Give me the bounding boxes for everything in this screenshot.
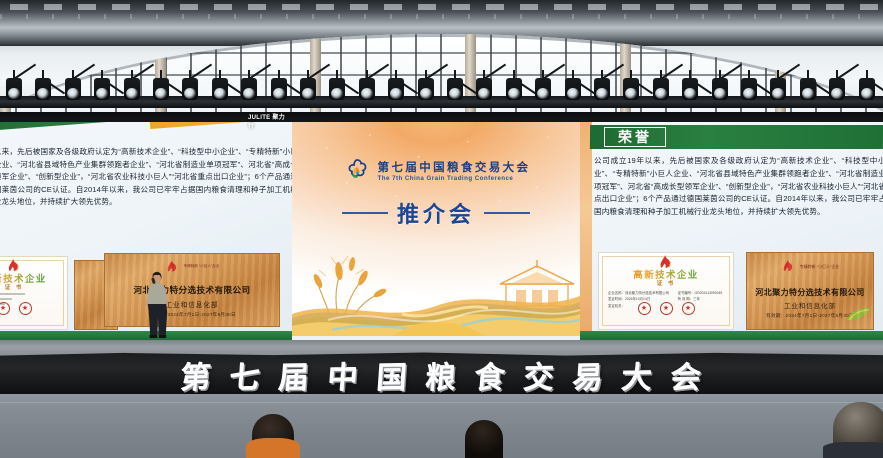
presenter-on-stage <box>140 270 174 338</box>
stage-light <box>800 78 816 100</box>
certificate-seals <box>0 302 67 315</box>
center-panel-artwork <box>292 244 580 340</box>
plaque-validity-date: 有效期：2024年7月1日-2027年6月30日 <box>105 312 279 318</box>
floor-seam-line <box>0 402 883 403</box>
certificate-subtitle: 证 书 <box>0 283 67 291</box>
stage-light <box>329 78 345 100</box>
stage-light <box>859 78 875 100</box>
stage-light <box>653 78 669 100</box>
audience-shoulder <box>823 442 883 458</box>
honor-header-box: 荣誉 <box>604 127 666 147</box>
stage-light <box>300 78 316 100</box>
right-panel-green-base <box>580 331 883 340</box>
ceiling-light-panel <box>486 4 504 10</box>
ceiling-light-panel <box>792 4 810 10</box>
plaque-company-name: 河北聚力特分选技术有限公司 <box>105 284 279 296</box>
conference-title-cn: 第七届中国粮食交易大会 <box>378 162 531 174</box>
stage-light <box>212 78 228 100</box>
ceiling-light-panel <box>758 4 776 10</box>
official-seal-icon <box>660 302 673 315</box>
stage-light <box>712 78 728 100</box>
ceiling-light-panel <box>350 4 368 10</box>
stage-light <box>623 78 639 100</box>
ceiling-light-panel <box>282 4 300 10</box>
leaf-decoration-icon <box>845 307 871 326</box>
certificate-subtitle: 证 书 <box>599 279 733 287</box>
banner-character: 中 <box>326 353 360 398</box>
ceiling-light-panel <box>10 4 28 10</box>
stage-light <box>682 78 698 100</box>
led-panel-right: 荣誉 公司成立19年以来，先后被国家及各级政府认定为“高新技术企业”、“科技型中… <box>580 122 883 340</box>
ceiling-light-panel <box>146 4 164 10</box>
banner-character: 粮 <box>424 353 458 398</box>
led-panel-center: 第七届中国粮食交易大会 The 7th China Grain Trading … <box>292 122 580 340</box>
ceiling-light-panel <box>384 4 402 10</box>
stage-light <box>241 78 257 100</box>
ceiling-light-panel <box>214 4 232 10</box>
ceiling-light-panel <box>588 4 606 10</box>
stage-light <box>359 78 375 100</box>
divider-left <box>342 212 388 214</box>
specialized-new-emblem: 专精特新 “小巨人”企业 <box>781 259 840 273</box>
banner-character: 届 <box>277 353 311 398</box>
plaque-issuing-org: 工业和信息化部 <box>105 299 279 309</box>
right-certificate-strip: 高新技术企业 证 书 企业名称：河北聚力特分选技术有限公司 证书编号：GR202… <box>580 250 883 340</box>
plaque-validity-date: 有效期：2024年7月1日-2027年6月30日 <box>747 313 873 319</box>
ceiling-light-panel <box>44 4 62 10</box>
honor-header-label: 荣誉 <box>618 127 652 147</box>
stage-light <box>829 78 845 100</box>
plaque-company-name: 河北聚力特分选技术有限公司 <box>747 287 873 298</box>
plaque-specialized-new: 专精特新 “小巨人”企业 河北聚力特分选技术有限公司 工业和信息化部 有效期：2… <box>746 252 874 330</box>
ceiling-light-panel <box>112 4 130 10</box>
ceiling-light-panel <box>860 4 878 10</box>
stage-light <box>124 78 140 100</box>
stage-light <box>535 78 551 100</box>
promotion-title: 推介会 <box>397 197 475 229</box>
stage-light <box>6 78 22 100</box>
specialized-new-badge-text: 专精特新 “小巨人”企业 <box>800 264 840 269</box>
stage-light <box>94 78 110 100</box>
ceiling-light-panel <box>656 4 674 10</box>
stage-light <box>741 78 757 100</box>
ceiling-light-panel <box>554 4 572 10</box>
certificate-seals <box>599 302 733 315</box>
official-seal-icon <box>0 302 10 315</box>
ceiling-light-panel <box>724 4 742 10</box>
stage-light <box>271 78 287 100</box>
stage-light <box>594 78 610 100</box>
banner-character: 食 <box>473 353 507 398</box>
banner-character: 大 <box>620 353 654 398</box>
julite-logo-text: JULITE 聚力特 <box>248 112 290 130</box>
ceiling-light-panel <box>418 4 436 10</box>
stage-light <box>388 78 404 100</box>
ceiling-light-panel <box>690 4 708 10</box>
ceiling-light-panel <box>452 4 470 10</box>
ceiling-light-panel <box>520 4 538 10</box>
stage-light <box>565 78 581 100</box>
right-panel-body-text: 公司成立19年以来，先后被国家及各级政府认定为“高新技术企业”、“科技型中小企业… <box>594 155 883 219</box>
audience-head <box>465 420 503 458</box>
plaque-issuing-org: 工业和信息化部 <box>747 301 873 310</box>
ceiling-light-panel <box>826 4 844 10</box>
julite-logo-badge: JULITE 聚力特 <box>248 115 290 127</box>
exhibition-hall-ceiling <box>0 0 883 132</box>
conference-title-en: The 7th China Grain Trading Conference <box>378 175 531 182</box>
ceiling-light-panel <box>622 4 640 10</box>
official-seal-icon <box>682 302 695 315</box>
certificate-high-tech: 高新技术企业 证 书 企业名称：河北聚力特分选技术有限公司 证书编号：GR202… <box>598 252 734 330</box>
specialized-new-badge-text: 专精特新 “小巨人”企业 <box>184 264 220 269</box>
stage-light <box>153 78 169 100</box>
left-panel-body-text: 年以来，先后被国家及各级政府认定为“高新技术企业”、“科技型中小企业”、“专精特… <box>0 146 292 209</box>
conference-stage-photo: 年以来，先后被国家及各级政府认定为“高新技术企业”、“科技型中小企业”、“专精特… <box>0 0 883 458</box>
conference-logo-lockup: 第七届中国粮食交易大会 The 7th China Grain Trading … <box>292 158 580 185</box>
event-banner-text: 第七届中国粮食交易大会 <box>0 356 883 394</box>
divider-right <box>484 212 530 214</box>
promotion-title-row: 推介会 <box>292 197 580 229</box>
banner-character: 国 <box>375 353 409 398</box>
stage-light <box>65 78 81 100</box>
stage-light <box>447 78 463 100</box>
official-seal-icon <box>638 302 651 315</box>
plaque-center-backdrop: 专精特新 “小巨人”企业 河北聚力特分选技术有限公司 工业和信息化部 有效期：2… <box>104 253 280 327</box>
ceiling-light-panel <box>180 4 198 10</box>
banner-character: 七 <box>228 353 262 398</box>
stage-light <box>182 78 198 100</box>
stage-light <box>770 78 786 100</box>
ceiling-light-panel <box>316 4 334 10</box>
official-seal-icon <box>19 302 32 315</box>
certificate-high-tech-cropped: 高新技术企业 证 书 <box>0 256 68 330</box>
ceiling-light-panel <box>78 4 96 10</box>
banner-character: 易 <box>571 353 605 398</box>
banner-character: 第 <box>179 353 213 398</box>
ceiling-light-panel <box>248 4 266 10</box>
venue-floor <box>0 394 883 458</box>
stage-light <box>506 78 522 100</box>
banner-character: 会 <box>669 353 703 398</box>
led-video-wall: 年以来，先后被国家及各级政府认定为“高新技术企业”、“科技型中小企业”、“专精特… <box>0 122 883 340</box>
conference-logo-text: 第七届中国粮食交易大会 The 7th China Grain Trading … <box>378 162 531 182</box>
banner-character: 交 <box>522 353 556 398</box>
stage-light <box>418 78 434 100</box>
grain-conference-logo-icon <box>342 158 372 185</box>
stage-light <box>476 78 492 100</box>
audience-head <box>246 438 300 458</box>
stage-light <box>35 78 51 100</box>
